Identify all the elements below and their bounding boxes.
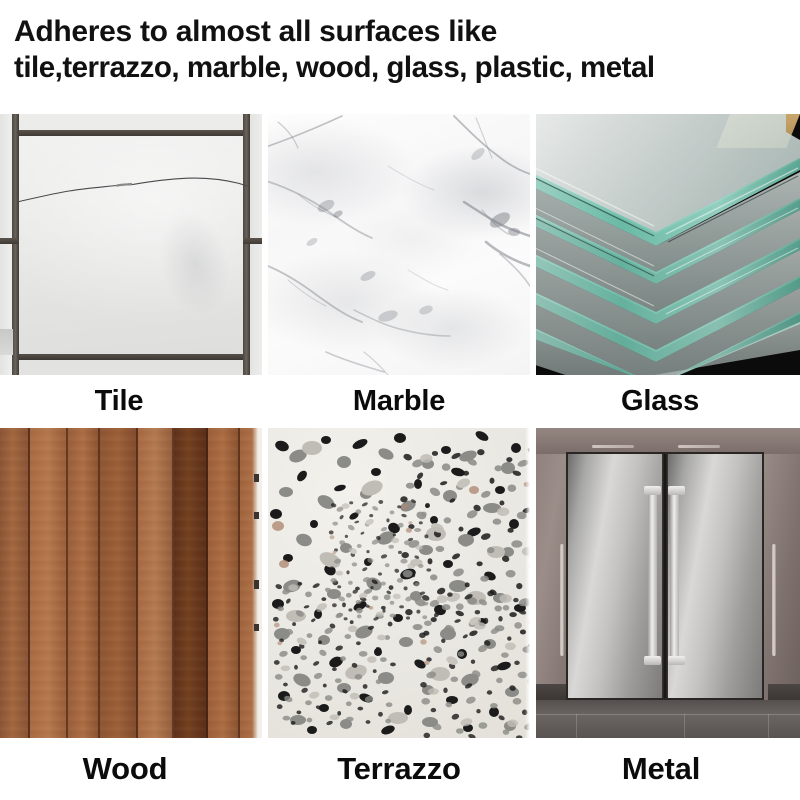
kitchen-floor <box>536 700 800 738</box>
caption-row-2: Wood Terrazzo Metal <box>0 738 800 800</box>
wood-plank-dark <box>174 428 208 738</box>
upper-cabinet-handle <box>678 445 720 448</box>
wood-plank <box>100 428 138 738</box>
caption-metal: Metal <box>536 738 786 800</box>
surface-gallery: Tile Marble Glass <box>0 114 800 800</box>
wood-plank <box>208 428 240 738</box>
tile-side-piece <box>0 114 12 240</box>
gallery-row-1 <box>0 114 800 375</box>
floor-tile-line <box>576 714 577 738</box>
glass-sheet-stack <box>536 114 800 375</box>
terrazzo-photo-edge <box>525 428 530 738</box>
caption-row-1: Tile Marble Glass <box>0 375 800 428</box>
marble-photo <box>268 114 530 375</box>
gallery-cell-wood <box>0 428 262 738</box>
wood-plank <box>0 428 30 738</box>
tile-crack-icon <box>17 174 247 214</box>
refrigerator-handle-right <box>670 490 679 662</box>
handle-mount <box>668 486 685 495</box>
terrazzo-photo <box>268 428 530 738</box>
wood-plank <box>30 428 68 738</box>
metal-photo <box>536 428 800 738</box>
cabinet-handle-left <box>560 544 564 656</box>
refrigerator-handle-left <box>648 490 657 662</box>
gallery-cell-marble <box>268 114 530 375</box>
gallery-cell-terrazzo <box>268 428 530 738</box>
gallery-row-2 <box>0 428 800 738</box>
product-feature-panel: Adheres to almost all surfaces like tile… <box>0 0 800 800</box>
handle-mount <box>644 486 661 495</box>
caption-tile: Tile <box>0 375 238 428</box>
terrazzo-aggregate-pattern <box>268 428 530 738</box>
headline-line-1: Adheres to almost all surfaces like <box>14 14 786 50</box>
tile-side-piece <box>0 244 12 375</box>
gallery-cell-tile <box>0 114 262 375</box>
tile-photo <box>0 114 262 375</box>
marble-vein-pattern <box>268 114 530 375</box>
gallery-cell-metal <box>536 428 800 738</box>
gallery-cell-glass <box>536 114 800 375</box>
caption-marble: Marble <box>268 375 530 428</box>
wood-edge-marks <box>252 428 262 738</box>
floor-tile-line <box>768 714 769 738</box>
caption-terrazzo: Terrazzo <box>268 738 530 800</box>
floor-tile-line <box>684 714 685 738</box>
tile-chip <box>0 329 13 355</box>
wood-photo <box>0 428 262 738</box>
upper-cabinet-handle <box>592 445 634 448</box>
glass-photo <box>536 114 800 375</box>
wood-plank <box>68 428 100 738</box>
upper-cabinet-band <box>536 428 800 454</box>
cabinet-handle-right <box>772 544 776 656</box>
tile-grout-line <box>12 130 250 136</box>
refrigerator <box>566 452 764 702</box>
tile-side-piece <box>250 114 262 240</box>
tile-grout-line <box>243 238 262 244</box>
caption-wood: Wood <box>0 738 250 800</box>
tile-grout-line <box>0 238 18 244</box>
tile-grout-line <box>12 354 250 360</box>
headline-line-2: tile,terrazzo, marble, wood, glass, plas… <box>14 50 786 86</box>
page-title: Adheres to almost all surfaces like tile… <box>0 14 800 86</box>
tile-grout-line <box>243 114 250 375</box>
tile-grout-line <box>12 114 19 375</box>
handle-mount <box>644 656 661 665</box>
tile-side-piece <box>250 244 262 375</box>
handle-mount <box>668 656 685 665</box>
wood-plank <box>138 428 174 738</box>
caption-glass: Glass <box>536 375 784 428</box>
